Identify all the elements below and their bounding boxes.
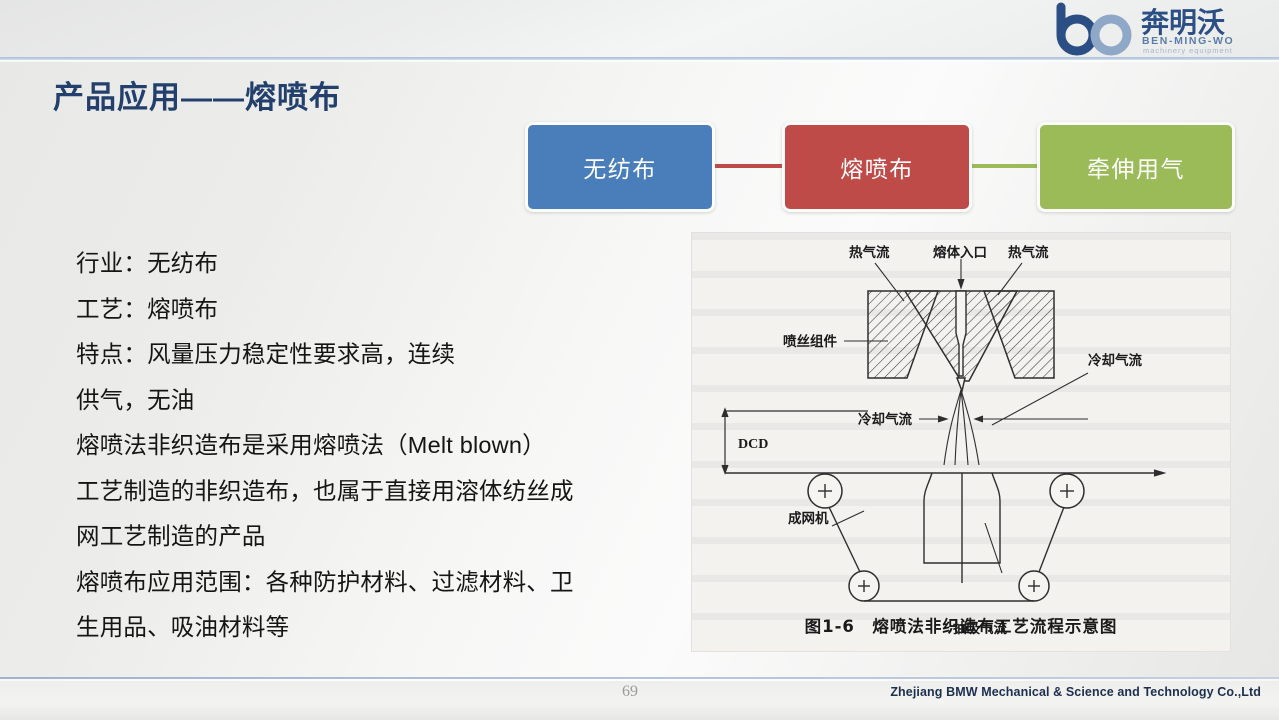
body-line: 生用品、吸油材料等: [76, 605, 676, 651]
slide-root: 奔明沃 BEN-MING-WO machinery equipment 产品应用…: [0, 0, 1279, 720]
footer-company-name: Zhejiang BMW Mechanical & Science and Te…: [890, 685, 1261, 699]
figure-label-dcd: DCD: [738, 437, 768, 452]
page-number: 69: [600, 683, 660, 701]
logo-latin-wordmark: BEN-MING-WO machinery equipment: [1142, 35, 1234, 55]
flow-connector-1: [712, 164, 785, 168]
flow-connector-2: [969, 164, 1040, 168]
page-title: 产品应用——熔喷布: [53, 79, 341, 116]
figure-label-hot-air-right: 热气流: [1008, 244, 1049, 261]
bo-monogram-icon: [1061, 7, 1127, 51]
body-line: 网工艺制造的产品: [76, 514, 676, 560]
figure-label-web-former: 成网机: [788, 510, 829, 527]
figure-label-cooling-air-right: 冷却气流: [1088, 352, 1142, 369]
process-flow-diagram: 无纺布 熔喷布 牵伸用气: [520, 114, 1240, 220]
header-divider-highlight: [0, 60, 1279, 62]
figure-drawing: 热气流 熔体入口 热气流 喷丝组件 冷却气流 冷却气流 成网机 抽吸气流 DCD: [692, 233, 1230, 651]
figure-label-melt-inlet: 熔体入口: [933, 244, 987, 261]
body-line: 熔喷布应用范围：各种防护材料、过滤材料、卫: [76, 560, 676, 606]
figure-label-cooling-air-center: 冷却气流: [858, 411, 912, 428]
body-line: 工艺制造的非织造布，也属于直接用溶体纺丝成: [76, 469, 676, 515]
body-line: 工艺：熔喷布: [76, 287, 676, 333]
company-logo: 奔明沃 BEN-MING-WO machinery equipment: [1051, 2, 1271, 56]
figure-label-hot-air-left: 热气流: [849, 244, 890, 261]
body-line: 熔喷法非织造布是采用熔喷法（Melt blown）: [76, 423, 676, 469]
flow-box-meltblown[interactable]: 熔喷布: [782, 122, 972, 212]
body-line: 特点：风量压力稳定性要求高，连续: [76, 332, 676, 378]
body-text-block: 行业：无纺布 工艺：熔喷布 特点：风量压力稳定性要求高，连续 供气，无油 熔喷法…: [76, 241, 676, 651]
flow-box-drawing-air[interactable]: 牵伸用气: [1037, 122, 1235, 212]
figure-caption: 图1-6 熔喷法非织造布工艺流程示意图: [692, 613, 1230, 637]
body-line: 供气，无油: [76, 378, 676, 424]
flow-box-nonwoven[interactable]: 无纺布: [525, 122, 715, 212]
meltblown-process-figure: 热气流 熔体入口 热气流 喷丝组件 冷却气流 冷却气流 成网机 抽吸气流 DCD…: [692, 233, 1230, 651]
svg-text:machinery equipment: machinery equipment: [1143, 46, 1233, 55]
body-line: 行业：无纺布: [76, 241, 676, 287]
figure-label-spinneret: 喷丝组件: [783, 333, 837, 350]
